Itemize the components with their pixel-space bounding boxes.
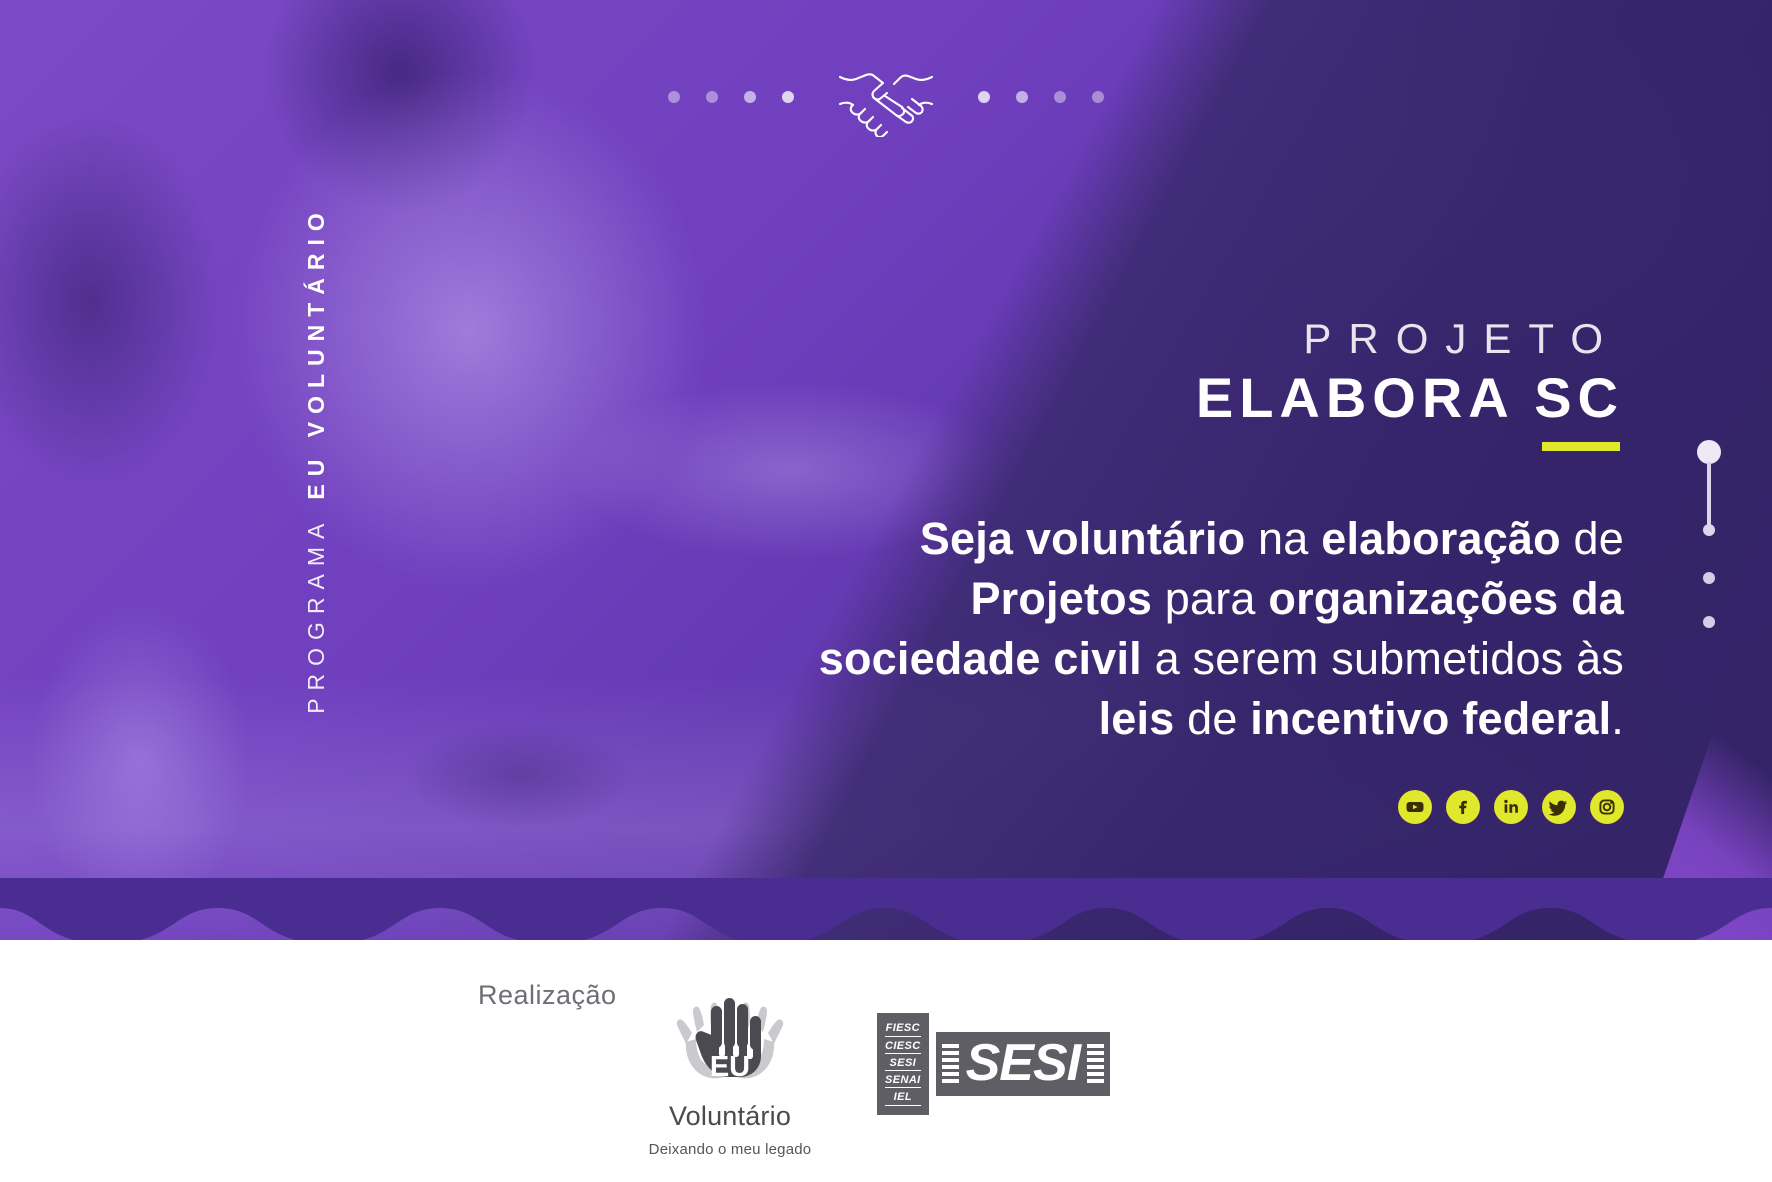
decorative-dot — [782, 91, 794, 103]
facebook-icon[interactable] — [1446, 790, 1480, 824]
hero-text-bold: elaboração — [1321, 513, 1561, 564]
sesi-bars-left — [942, 1044, 959, 1083]
sesi-wordmark-block: SESI — [936, 1032, 1111, 1096]
decorative-dot — [1054, 91, 1066, 103]
realizacao-label: Realização — [478, 980, 617, 1011]
sesi-entity: FIESC — [885, 1022, 921, 1036]
hero-description: Seja voluntário na elaboração de Projeto… — [804, 509, 1624, 748]
page-title: ELABORA SC — [804, 370, 1624, 426]
hero-kicker: PROJETO — [804, 318, 1624, 360]
dot-row-left — [668, 91, 794, 103]
eu-voluntario-name: Voluntário — [645, 1101, 815, 1132]
hero-text-regular: na — [1245, 513, 1321, 564]
pin-tip-dot — [1703, 524, 1715, 536]
twitter-icon[interactable] — [1542, 790, 1576, 824]
svg-text:EU: EU — [710, 1051, 750, 1083]
eu-voluntario-logo: EU Voluntário Deixando o meu legado — [645, 992, 815, 1158]
sesi-wordmark: SESI — [964, 1040, 1083, 1088]
hero-text-regular: a serem submetidos às — [1142, 633, 1624, 684]
pin-decoration — [1694, 440, 1724, 630]
hero-text-regular: para — [1152, 573, 1268, 624]
pin-head-icon — [1697, 440, 1721, 464]
decorative-dot — [744, 91, 756, 103]
decorative-dot — [1016, 91, 1028, 103]
footer-section: Realização — [0, 940, 1772, 1182]
pin-dot — [1703, 572, 1715, 584]
hero-text-bold: leis — [1099, 693, 1175, 744]
youtube-icon[interactable] — [1398, 790, 1432, 824]
accent-underline — [1542, 442, 1620, 451]
decorative-dot — [1092, 91, 1104, 103]
promotional-banner: PROGRAMA EU VOLUNTÁRIO PROJETO ELABORA S… — [0, 0, 1772, 1182]
hero-text-regular: de — [1174, 693, 1250, 744]
social-links — [804, 790, 1624, 824]
partner-logos: EU Voluntário Deixando o meu legado FIES… — [645, 992, 1110, 1158]
decorative-dot — [668, 91, 680, 103]
hero-section: PROGRAMA EU VOLUNTÁRIO PROJETO ELABORA S… — [0, 0, 1772, 940]
sesi-bars-right — [1087, 1044, 1104, 1083]
hero-text-regular: de — [1561, 513, 1624, 564]
decorative-dot — [978, 91, 990, 103]
sesi-entity: CIESC — [885, 1040, 921, 1054]
sesi-entity: SENAI — [885, 1074, 921, 1088]
sesi-entity: IEL — [885, 1091, 921, 1105]
sesi-logo: FIESCCIESCSESISENAIIEL SESI — [877, 1013, 1110, 1115]
pin-stem — [1707, 462, 1711, 528]
hero-text-bold: Seja voluntário — [920, 513, 1246, 564]
instagram-icon[interactable] — [1590, 790, 1624, 824]
dot-row-right — [978, 91, 1104, 103]
decorative-dot — [706, 91, 718, 103]
hero-text-bold: Projetos — [970, 573, 1152, 624]
hands-icon: EU — [664, 992, 796, 1100]
hero-text-regular: . — [1611, 693, 1624, 744]
hero-content: PROJETO ELABORA SC Seja voluntário na el… — [804, 318, 1624, 824]
sesi-entity-stack: FIESCCIESCSESISENAIIEL — [877, 1013, 929, 1115]
handshake-icon — [834, 57, 938, 137]
hero-text-bold: incentivo federal — [1250, 693, 1611, 744]
sesi-entity: SESI — [885, 1057, 921, 1071]
linkedin-icon[interactable] — [1494, 790, 1528, 824]
top-decorative-strip — [0, 42, 1772, 152]
pin-dot — [1703, 616, 1715, 628]
eu-voluntario-tagline: Deixando o meu legado — [645, 1141, 815, 1158]
